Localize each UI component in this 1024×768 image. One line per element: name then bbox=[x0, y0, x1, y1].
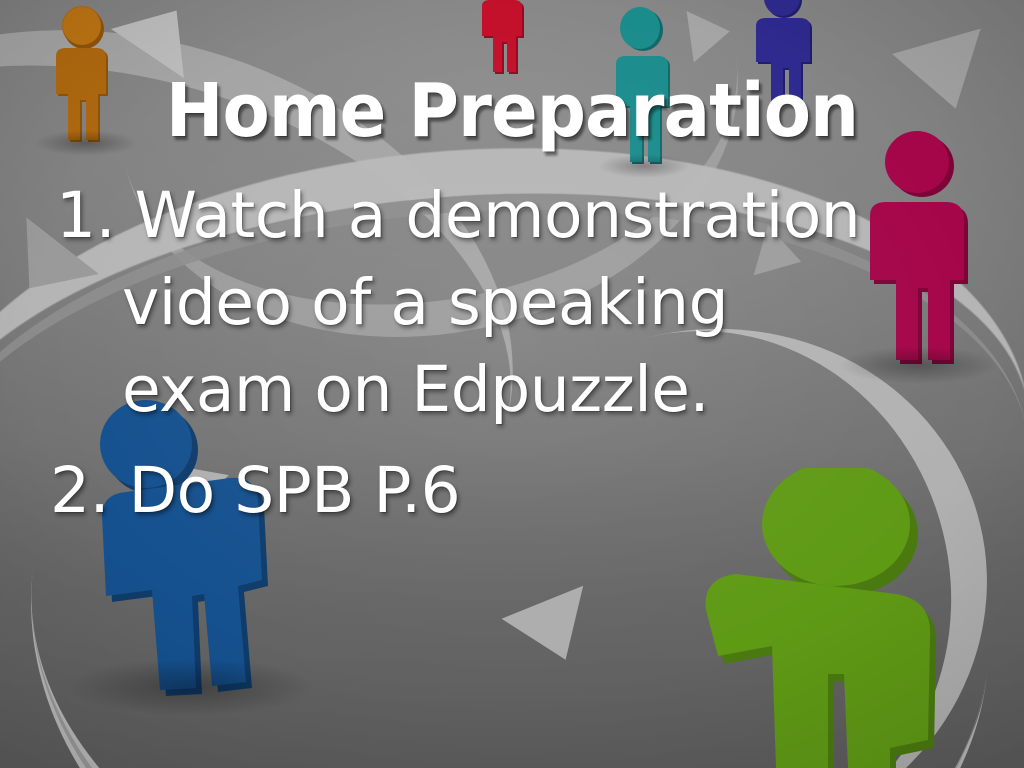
list-item-2-line-1: 2. Do SPB P.6 bbox=[50, 454, 460, 527]
home-preparation-list: 1. Watch a demonstrationvideo of a speak… bbox=[0, 172, 1024, 534]
list-item-1-line-2: video of a speaking bbox=[56, 259, 1024, 346]
list-item-2: 2. Do SPB P.6 bbox=[0, 447, 1024, 534]
page-title: Home Preparation bbox=[36, 74, 988, 148]
list-item-1-line-3: exam on Edpuzzle. bbox=[56, 346, 1024, 433]
list-item-1-line-1: 1. Watch a demonstration bbox=[56, 179, 860, 252]
list-item-1: 1. Watch a demonstrationvideo of a speak… bbox=[0, 172, 1024, 433]
presentation-slide: Home Preparation 1. Watch a demonstratio… bbox=[0, 0, 1024, 768]
slide-text-layer: Home Preparation 1. Watch a demonstratio… bbox=[0, 0, 1024, 768]
